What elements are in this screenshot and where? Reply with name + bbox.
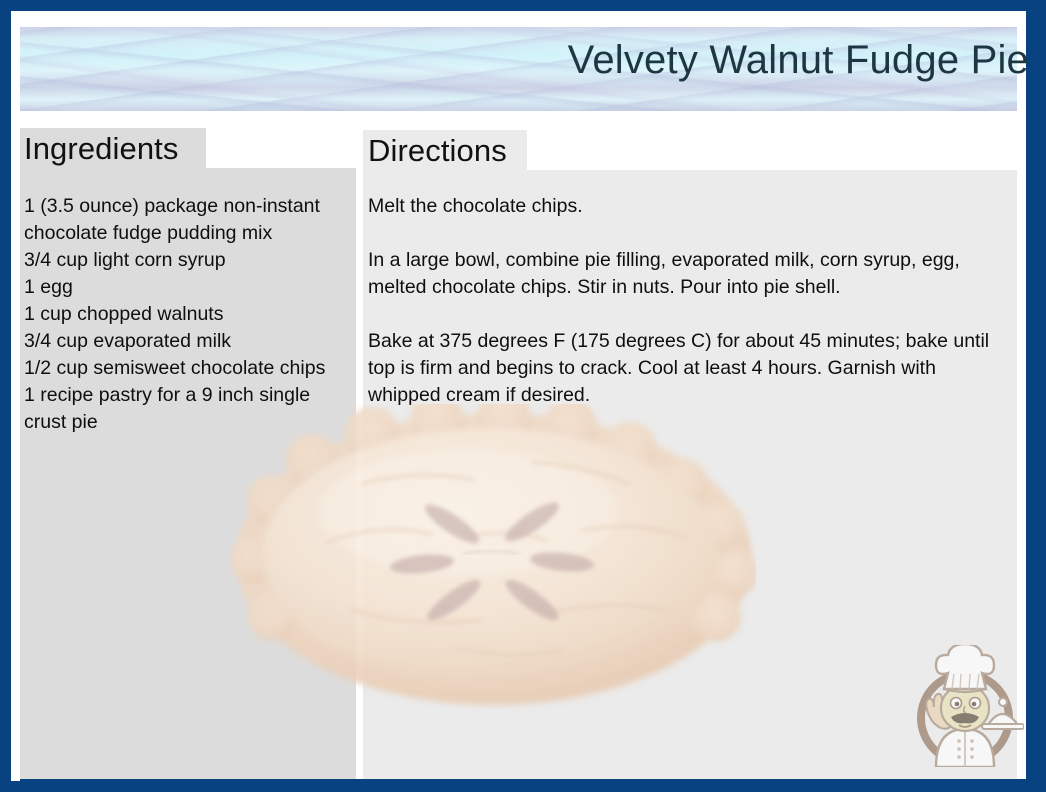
direction-step: Bake at 375 degrees F (175 degrees C) fo… — [368, 328, 1013, 409]
direction-step: Melt the chocolate chips. — [368, 193, 1013, 220]
recipe-card: Velvety Walnut Fudge Pie Ingredients 1 (… — [0, 0, 1046, 792]
ingredients-heading: Ingredients — [24, 130, 178, 168]
directions-steps: Melt the chocolate chips. In a large bow… — [368, 193, 1013, 409]
card-border-top — [0, 0, 1046, 11]
ingredients-list: 1 (3.5 ounce) package non-instant chocol… — [24, 193, 352, 436]
page-title: Velvety Walnut Fudge Pie — [568, 38, 1029, 82]
card-border-inset — [11, 11, 20, 781]
card-border-left — [0, 0, 11, 792]
directions-heading: Directions — [368, 132, 507, 170]
direction-step: In a large bowl, combine pie filling, ev… — [368, 247, 1013, 301]
card-border-right — [1026, 0, 1046, 792]
card-border-bottom — [0, 779, 1046, 792]
